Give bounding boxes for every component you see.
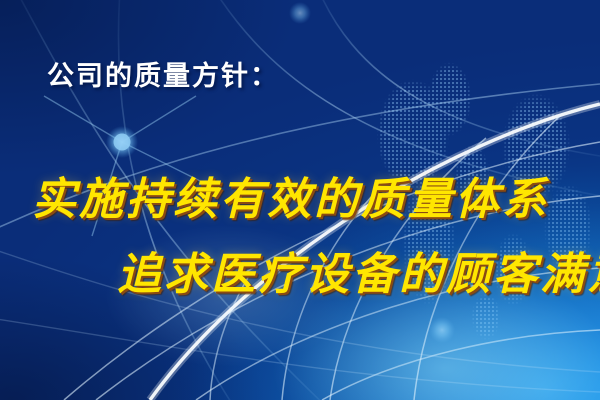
network-node-core-icon: [114, 134, 131, 151]
network-node-icon: [106, 126, 138, 158]
quality-policy-slide: 公司的质量方针： 实施持续有效的质量体系 追求医疗设备的顾客满意: [0, 0, 600, 400]
page-title: 公司的质量方针：: [47, 54, 279, 93]
slogan-line-1: 实施持续有效的质量体系: [32, 163, 549, 227]
slogan-line-2: 追求医疗设备的顾客满意: [117, 238, 600, 302]
network-node-icon: [289, 2, 311, 24]
network-node-icon: [429, 317, 455, 343]
